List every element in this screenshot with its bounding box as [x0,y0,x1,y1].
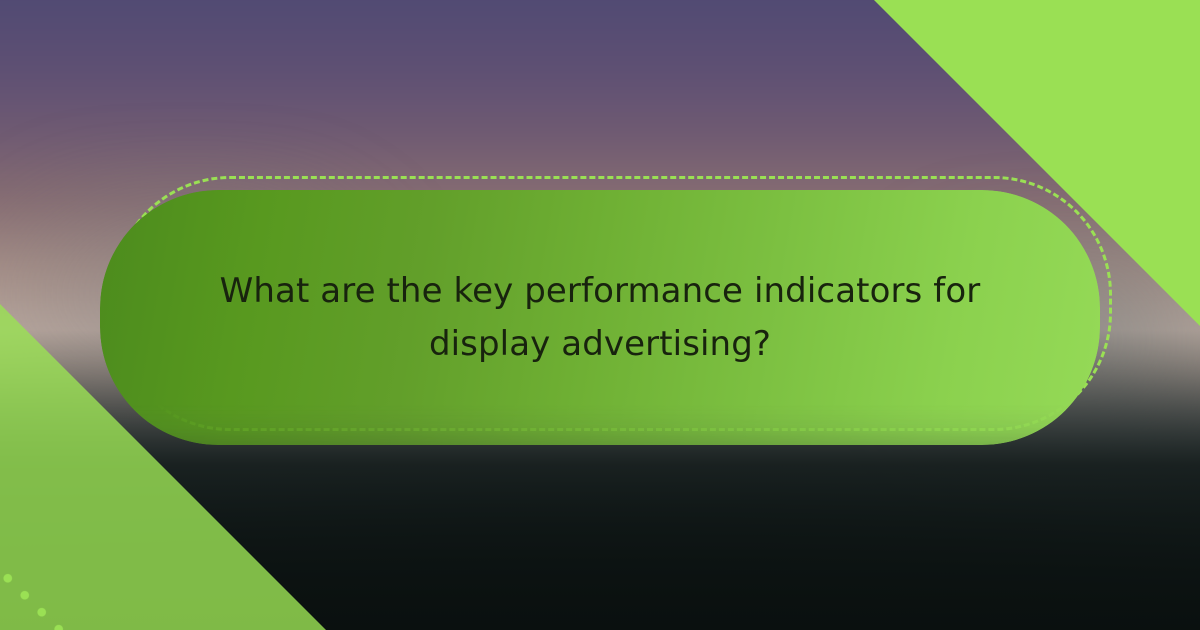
question-text: What are the key performance indicators … [210,265,990,370]
question-card: What are the key performance indicators … [100,190,1100,445]
card-body: What are the key performance indicators … [100,190,1100,445]
question-card-stage: What are the key performance indicators … [0,0,1200,630]
